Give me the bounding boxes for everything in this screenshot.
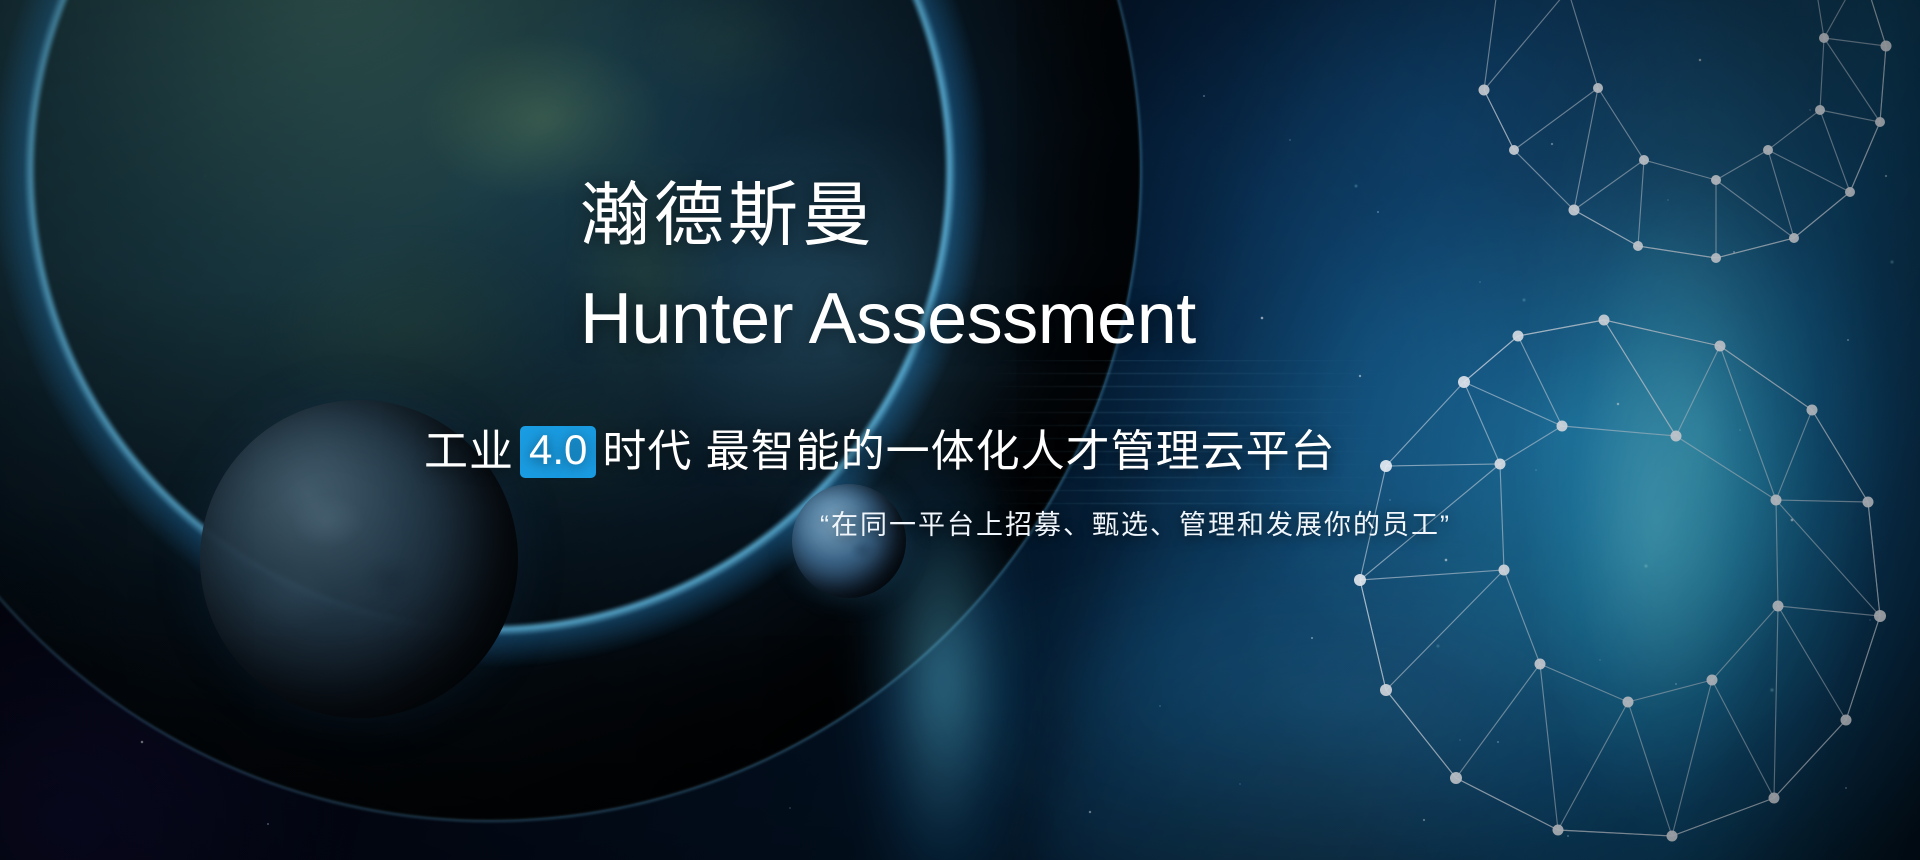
hero-content: 瀚德斯曼 Hunter Assessment 工业 4.0 时代 最智能的一体化…: [0, 0, 1920, 860]
brand-title-chinese: 瀚德斯曼: [580, 180, 876, 250]
hero-subtitle-quote: “在同一平台上招募、甄选、管理和发展你的员工”: [820, 512, 1451, 539]
tagline-prefix: 工业: [424, 430, 514, 474]
tagline: 工业 4.0 时代 最智能的一体化人才管理云平台: [424, 426, 1336, 478]
industry-version-badge: 4.0: [520, 426, 596, 478]
brand-title-english: Hunter Assessment: [580, 283, 1196, 355]
hero-banner: 瀚德斯曼 Hunter Assessment 工业 4.0 时代 最智能的一体化…: [0, 0, 1920, 860]
tagline-suffix: 时代 最智能的一体化人才管理云平台: [602, 430, 1335, 474]
